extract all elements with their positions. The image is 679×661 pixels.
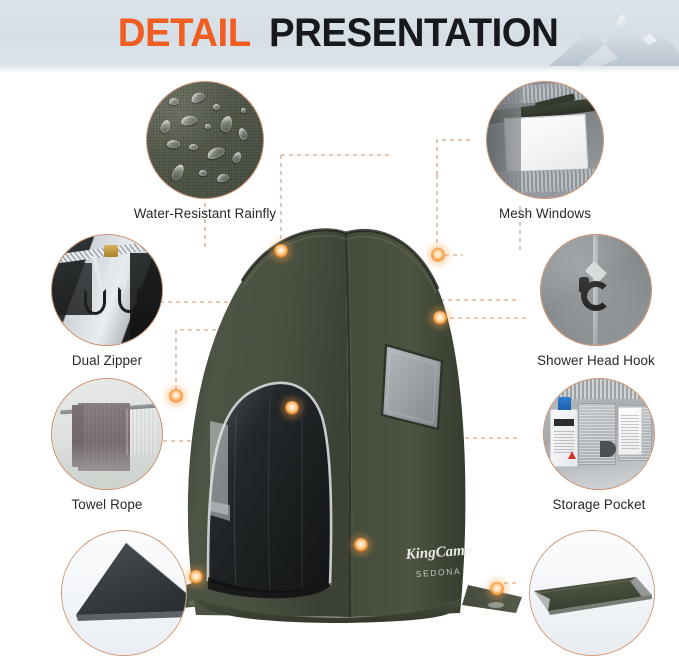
mesh-storage-pocket-icon [543, 378, 655, 490]
anchor-dot-towel-rope [285, 401, 299, 415]
mesh-window-panel-icon [486, 81, 604, 199]
zipper-pulls-icon [51, 234, 163, 346]
callout-label: Storage Pocket [526, 497, 672, 512]
callout-sand-bag[interactable]: Sand Bag [522, 530, 662, 661]
callout-dual-zipper[interactable]: Dual Zipper [32, 234, 182, 368]
water-droplets-on-fabric-icon [146, 81, 264, 199]
sand-bag-icon [529, 530, 655, 656]
anchor-dot-storage-pocket [354, 538, 368, 552]
callout-label: Mesh Windows [452, 206, 638, 221]
anchor-dot-sand-bag [490, 582, 504, 596]
detail-presentation-infographic: DETAIL PRESENTATION [0, 0, 679, 661]
callout-label: Shower Head Hook [526, 353, 666, 368]
anchor-dot-mesh-window [431, 248, 445, 262]
callout-label: Dual Zipper [32, 353, 182, 368]
callout-towel-rope[interactable]: Towel Rope [32, 378, 182, 512]
callout-detachable-floor-mat[interactable]: Detachable Floor Mat [24, 530, 224, 661]
callout-label: Towel Rope [32, 497, 182, 512]
hanging-towel-icon [51, 378, 163, 490]
callout-storage-pocket[interactable]: Storage Pocket [526, 378, 672, 512]
floor-mat-icon [61, 530, 187, 656]
callout-mesh-windows[interactable]: Mesh Windows [452, 81, 638, 221]
hanging-hook-icon [540, 234, 652, 346]
callout-shower-head-hook[interactable]: Shower Head Hook [526, 234, 666, 368]
callout-label: Water-Resistant Rainfly [100, 206, 310, 221]
anchor-dot-rainfly [274, 244, 288, 258]
callout-water-resistant-rainfly[interactable]: Water-Resistant Rainfly [100, 81, 310, 221]
anchor-dot-shower-hook [433, 311, 447, 325]
